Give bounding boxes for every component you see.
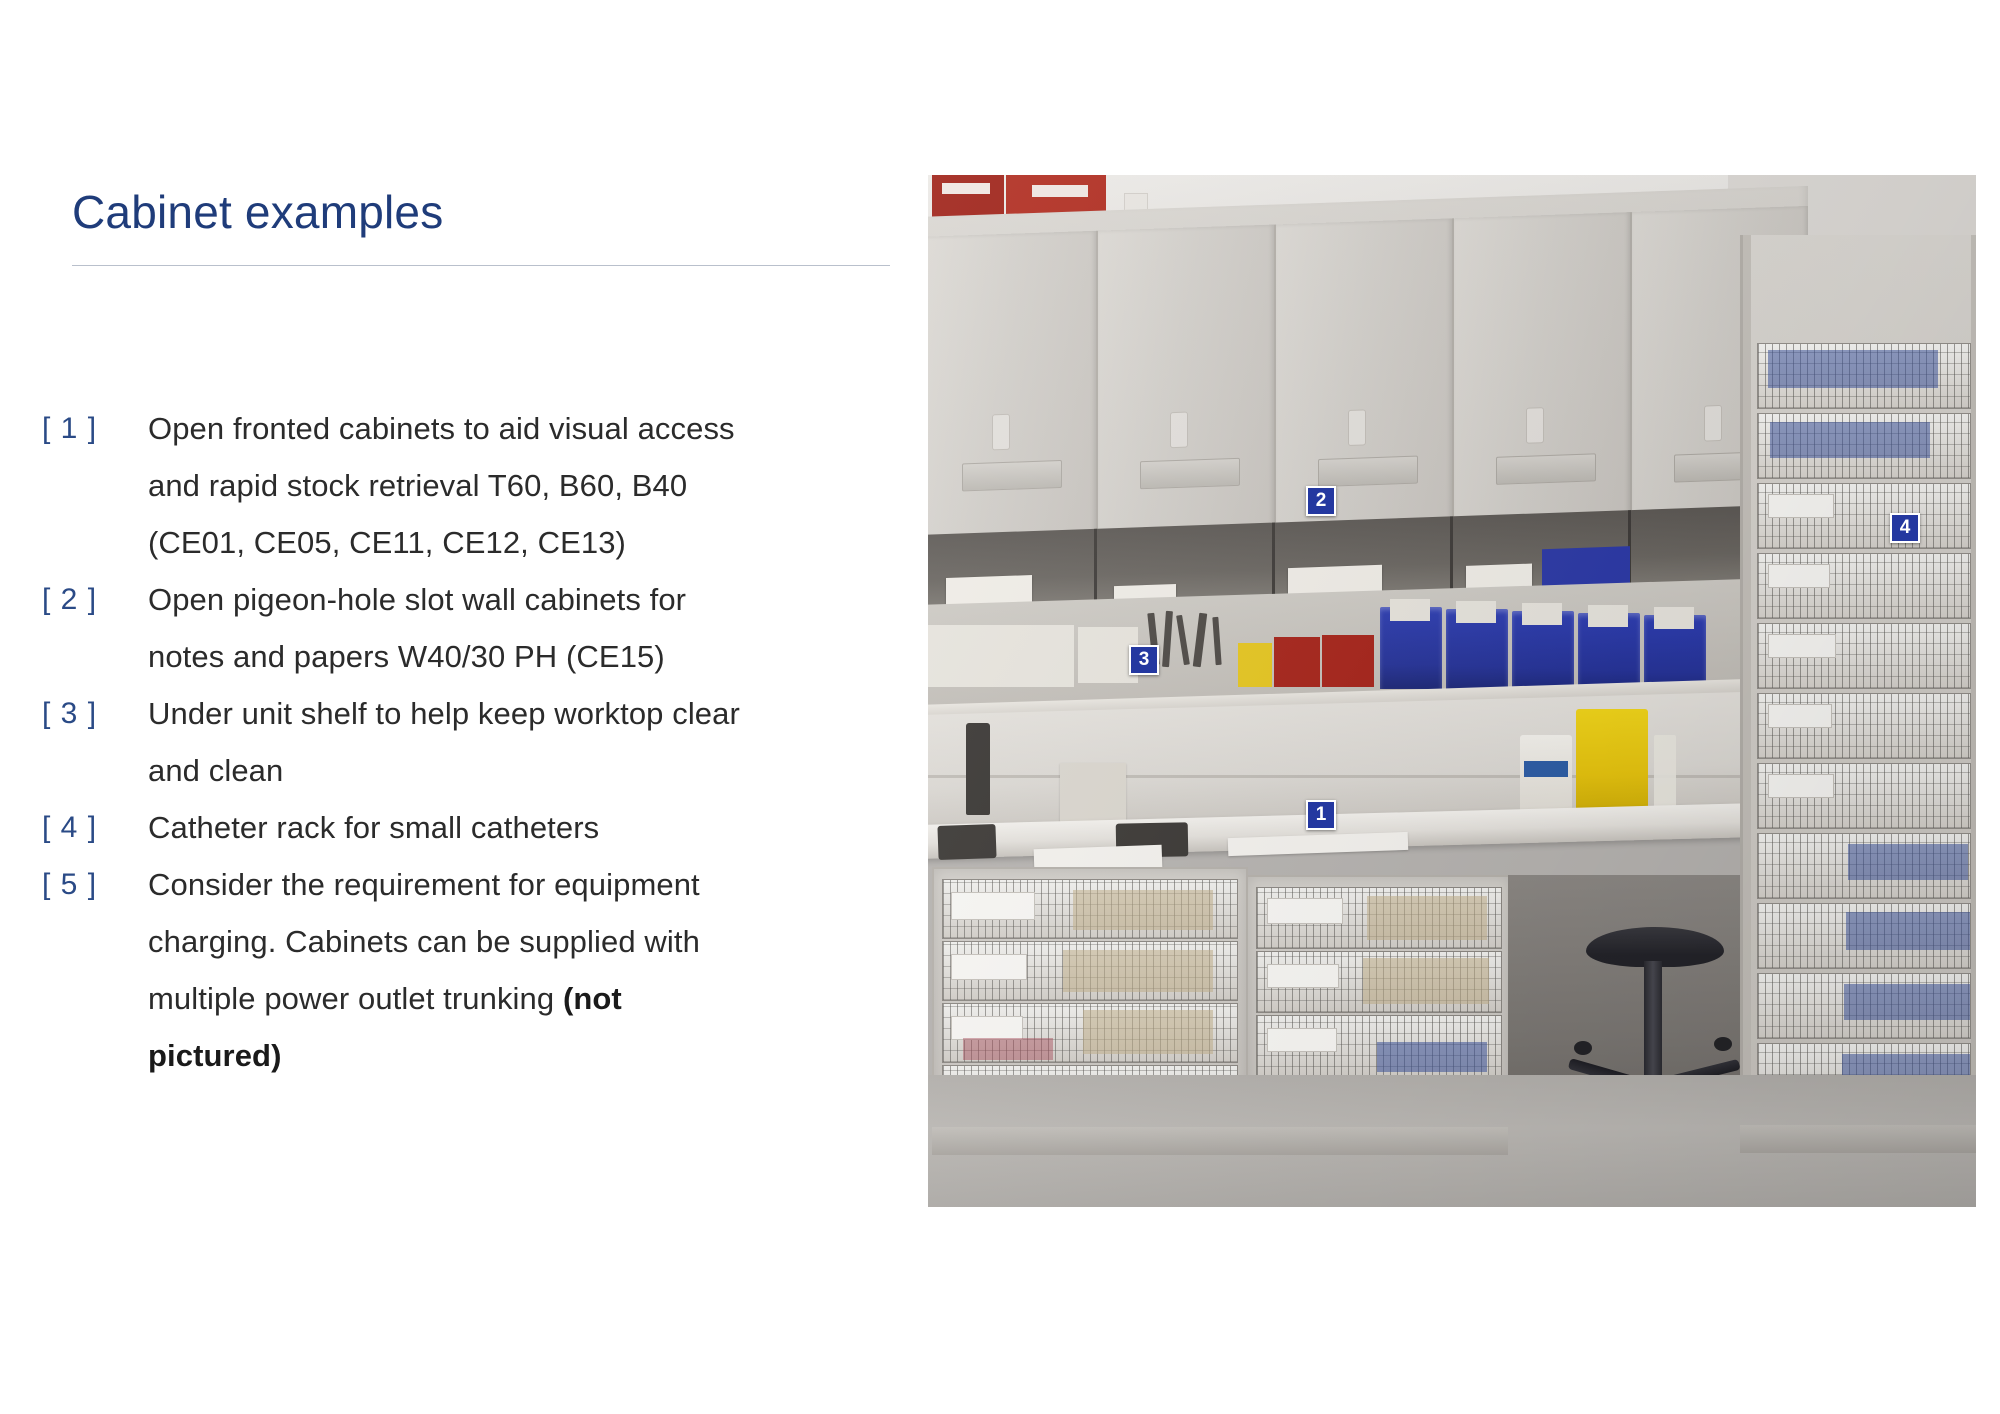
list-item: [ 1 ] Open fronted cabinets to aid visua… — [40, 400, 740, 571]
list-item-text-5: Consider the requirement for equipment c… — [148, 856, 740, 1084]
photo-lighting-overlay — [928, 175, 1976, 1207]
list-item-text-3: Under unit shelf to help keep worktop cl… — [148, 685, 740, 799]
list-item-marker-2: [ 2 ] — [40, 571, 148, 628]
list-item-body-1: Open fronted cabinets to aid visual acce… — [148, 411, 735, 560]
list-item-marker-1: [ 1 ] — [40, 400, 148, 457]
list-item-text-4: Catheter rack for small catheters — [148, 799, 740, 856]
list-item: [ 4 ] Catheter rack for small catheters — [40, 799, 740, 856]
callout-badge-2[interactable]: 2 — [1306, 486, 1336, 516]
list-item-marker-4: [ 4 ] — [40, 799, 148, 856]
callout-badge-3[interactable]: 3 — [1129, 645, 1159, 675]
list-item-marker-5: [ 5 ] — [40, 856, 148, 913]
list-item: [ 5 ] Consider the requirement for equip… — [40, 856, 740, 1084]
list-item-body-4: Catheter rack for small catheters — [148, 810, 599, 845]
list-item-body-2: Open pigeon-hole slot wall cabinets for … — [148, 582, 686, 674]
list-item-body-3: Under unit shelf to help keep worktop cl… — [148, 696, 740, 788]
page-title: Cabinet examples — [72, 185, 443, 239]
title-divider — [72, 265, 890, 266]
list-item-text-1: Open fronted cabinets to aid visual acce… — [148, 400, 740, 571]
list-item: [ 3 ] Under unit shelf to help keep work… — [40, 685, 740, 799]
cabinet-photo: 2 4 3 1 — [928, 175, 1976, 1207]
callout-badge-4[interactable]: 4 — [1890, 513, 1920, 543]
list-item: [ 2 ] Open pigeon-hole slot wall cabinet… — [40, 571, 740, 685]
list-item-text-2: Open pigeon-hole slot wall cabinets for … — [148, 571, 740, 685]
callout-badge-1[interactable]: 1 — [1306, 800, 1336, 830]
list-item-marker-3: [ 3 ] — [40, 685, 148, 742]
bullet-list: [ 1 ] Open fronted cabinets to aid visua… — [40, 400, 740, 1084]
